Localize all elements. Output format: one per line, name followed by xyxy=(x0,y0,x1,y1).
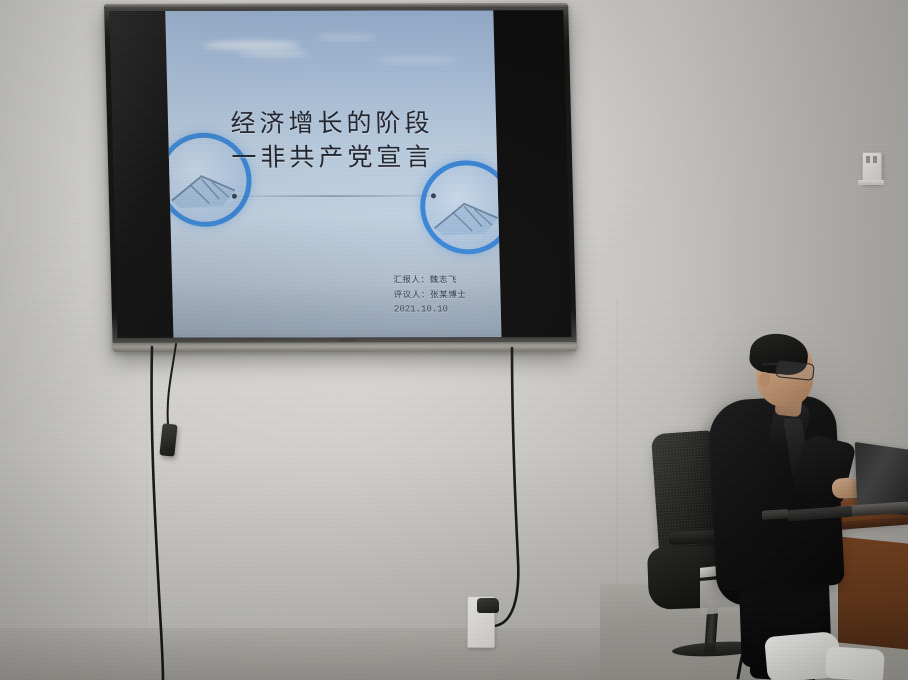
title-divider-dot-left xyxy=(232,194,237,199)
slide-credits: 汇报人：魏志飞 评议人：张某博士 2021.10.10 xyxy=(393,273,467,318)
structure-glyph-icon xyxy=(430,189,502,240)
presentation-slide: 经济增长的阶段 一非共产党宣言 汇报人：魏志飞 评议人：张某博士 2021.10… xyxy=(165,10,501,337)
tv-top-edge xyxy=(104,3,568,8)
television: 经济增长的阶段 一非共产党宣言 汇报人：魏志飞 评议人：张某博士 2021.10… xyxy=(104,3,577,352)
credit-reporter: 汇报人：魏志飞 xyxy=(393,273,466,288)
cloud-icon xyxy=(376,56,456,63)
tv-bottom-bezel xyxy=(113,342,577,352)
power-plug-icon xyxy=(477,598,499,613)
cloud-icon xyxy=(238,51,308,57)
white-bag-on-floor-second xyxy=(825,646,885,680)
slide-title-line-1: 经济增长的阶段 xyxy=(168,106,497,141)
tv-screen: 经济增长的阶段 一非共产党宣言 汇报人：魏志飞 评议人：张某博士 2021.10… xyxy=(109,10,571,338)
credit-reviewer: 评议人：张某博士 xyxy=(393,287,466,302)
desk-front-panel xyxy=(838,536,908,649)
presenter-hand xyxy=(831,477,859,500)
tv-ir-sensor-icon xyxy=(340,337,356,341)
title-divider-bar xyxy=(238,195,430,196)
title-divider-dot-right xyxy=(431,193,436,198)
floor-left xyxy=(0,628,640,680)
cloud-icon xyxy=(316,35,376,41)
wall-sensor-base xyxy=(858,180,884,185)
title-divider xyxy=(232,192,436,200)
slide-title-line-2: 一非共产党宣言 xyxy=(168,140,497,175)
presentation-room-photo: 经济增长的阶段 一非共产党宣言 汇报人：魏志飞 评议人：张某博士 2021.10… xyxy=(0,0,908,680)
smartphone-on-desk[interactable] xyxy=(762,509,788,520)
credit-date: 2021.10.10 xyxy=(394,302,467,318)
slide-title: 经济增长的阶段 一非共产党宣言 xyxy=(168,106,498,175)
cloud-icon xyxy=(204,41,300,50)
